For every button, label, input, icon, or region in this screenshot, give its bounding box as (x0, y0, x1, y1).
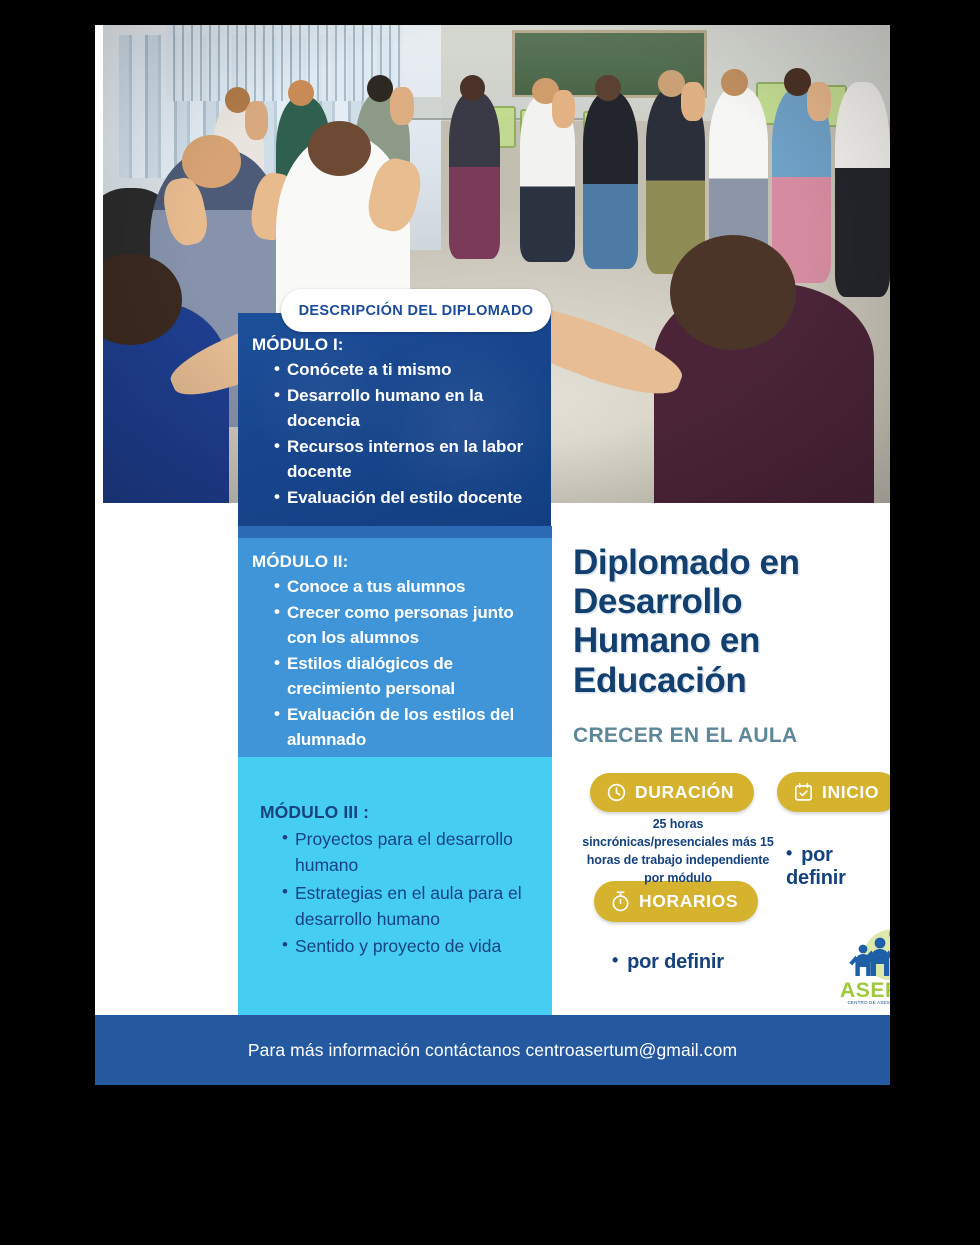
module-1-panel: MÓDULO I: Conócete a ti mismo Desarrollo… (238, 313, 551, 526)
module-1-title: MÓDULO I: (252, 335, 537, 355)
duracion-description: 25 horas sincrónicas/presenciales más 15… (578, 815, 778, 888)
descripcion-del-diplomado-pill: DESCRIPCIÓN DEL DIPLOMADO (281, 289, 551, 332)
list-item: Proyectos para el desarrollo humano (282, 826, 540, 879)
list-item: Estrategias en el aula para el desarroll… (282, 880, 540, 933)
module-1-list: Conócete a ti mismo Desarrollo humano en… (252, 358, 537, 511)
module-2-list: Conoce a tus alumnos Crecer como persona… (252, 575, 540, 753)
poster-subtitle: CRECER EN EL AULA (573, 724, 888, 748)
horarios-value: por definir (612, 950, 724, 974)
inicio-value: por definir (786, 843, 890, 890)
stopwatch-icon (610, 890, 631, 913)
list-item: Desarrollo humano en la docencia (274, 384, 537, 434)
horarios-badge-label: HORARIOS (639, 891, 738, 912)
duracion-badge[interactable]: DURACIÓN (590, 773, 754, 812)
contact-footer: Para más información contáctanos centroa… (95, 1015, 890, 1085)
module-3-panel: MÓDULO III : Proyectos para el desarroll… (238, 757, 552, 1025)
module-3-list: Proyectos para el desarrollo humano Estr… (260, 826, 540, 959)
page-title: Diplomado en Desarrollo Humano en Educac… (573, 543, 888, 700)
list-item: Conócete a ti mismo (274, 358, 537, 383)
list-item: Crecer como personas junto con los alumn… (274, 601, 540, 651)
inicio-badge-wrap: INICIO (777, 772, 890, 812)
duracion-badge-wrap: DURACIÓN (590, 773, 754, 812)
list-item: Evaluación del estilo docente (274, 486, 537, 511)
clock-icon (606, 782, 627, 803)
list-item: Estilos dialógicos de crecimiento person… (274, 652, 540, 702)
list-item: Evaluación de los estilos del alumnado (274, 703, 540, 753)
list-item: Conoce a tus alumnos (274, 575, 540, 600)
module-3-title: MÓDULO III : (260, 802, 540, 823)
list-item: Recursos internos en la labor docente (274, 435, 537, 485)
asertum-logo: ASERTUM CENTRO DE ASESORÍA EDUCATIVA S.C… (835, 923, 890, 1015)
module-2-title: MÓDULO II: (252, 552, 540, 572)
list-item: Sentido y proyecto de vida (282, 933, 540, 959)
module-2-panel: MÓDULO II: Conoce a tus alumnos Crecer c… (238, 526, 552, 757)
asertum-logo-subtitle: CENTRO DE ASESORÍA EDUCATIVA S.C. (835, 1000, 890, 1005)
module-2-top-band (238, 526, 552, 538)
poster-right-column: Diplomado en Desarrollo Humano en Educac… (558, 515, 888, 748)
poster-card: MÓDULO I: Conócete a ti mismo Desarrollo… (95, 25, 890, 1085)
descripcion-pill-label: DESCRIPCIÓN DEL DIPLOMADO (299, 303, 534, 319)
calendar-check-icon (793, 781, 814, 803)
contact-footer-text: Para más información contáctanos centroa… (248, 1040, 737, 1061)
inicio-badge-label: INICIO (822, 782, 879, 803)
duracion-badge-label: DURACIÓN (635, 782, 734, 803)
inicio-badge[interactable]: INICIO (777, 772, 890, 812)
